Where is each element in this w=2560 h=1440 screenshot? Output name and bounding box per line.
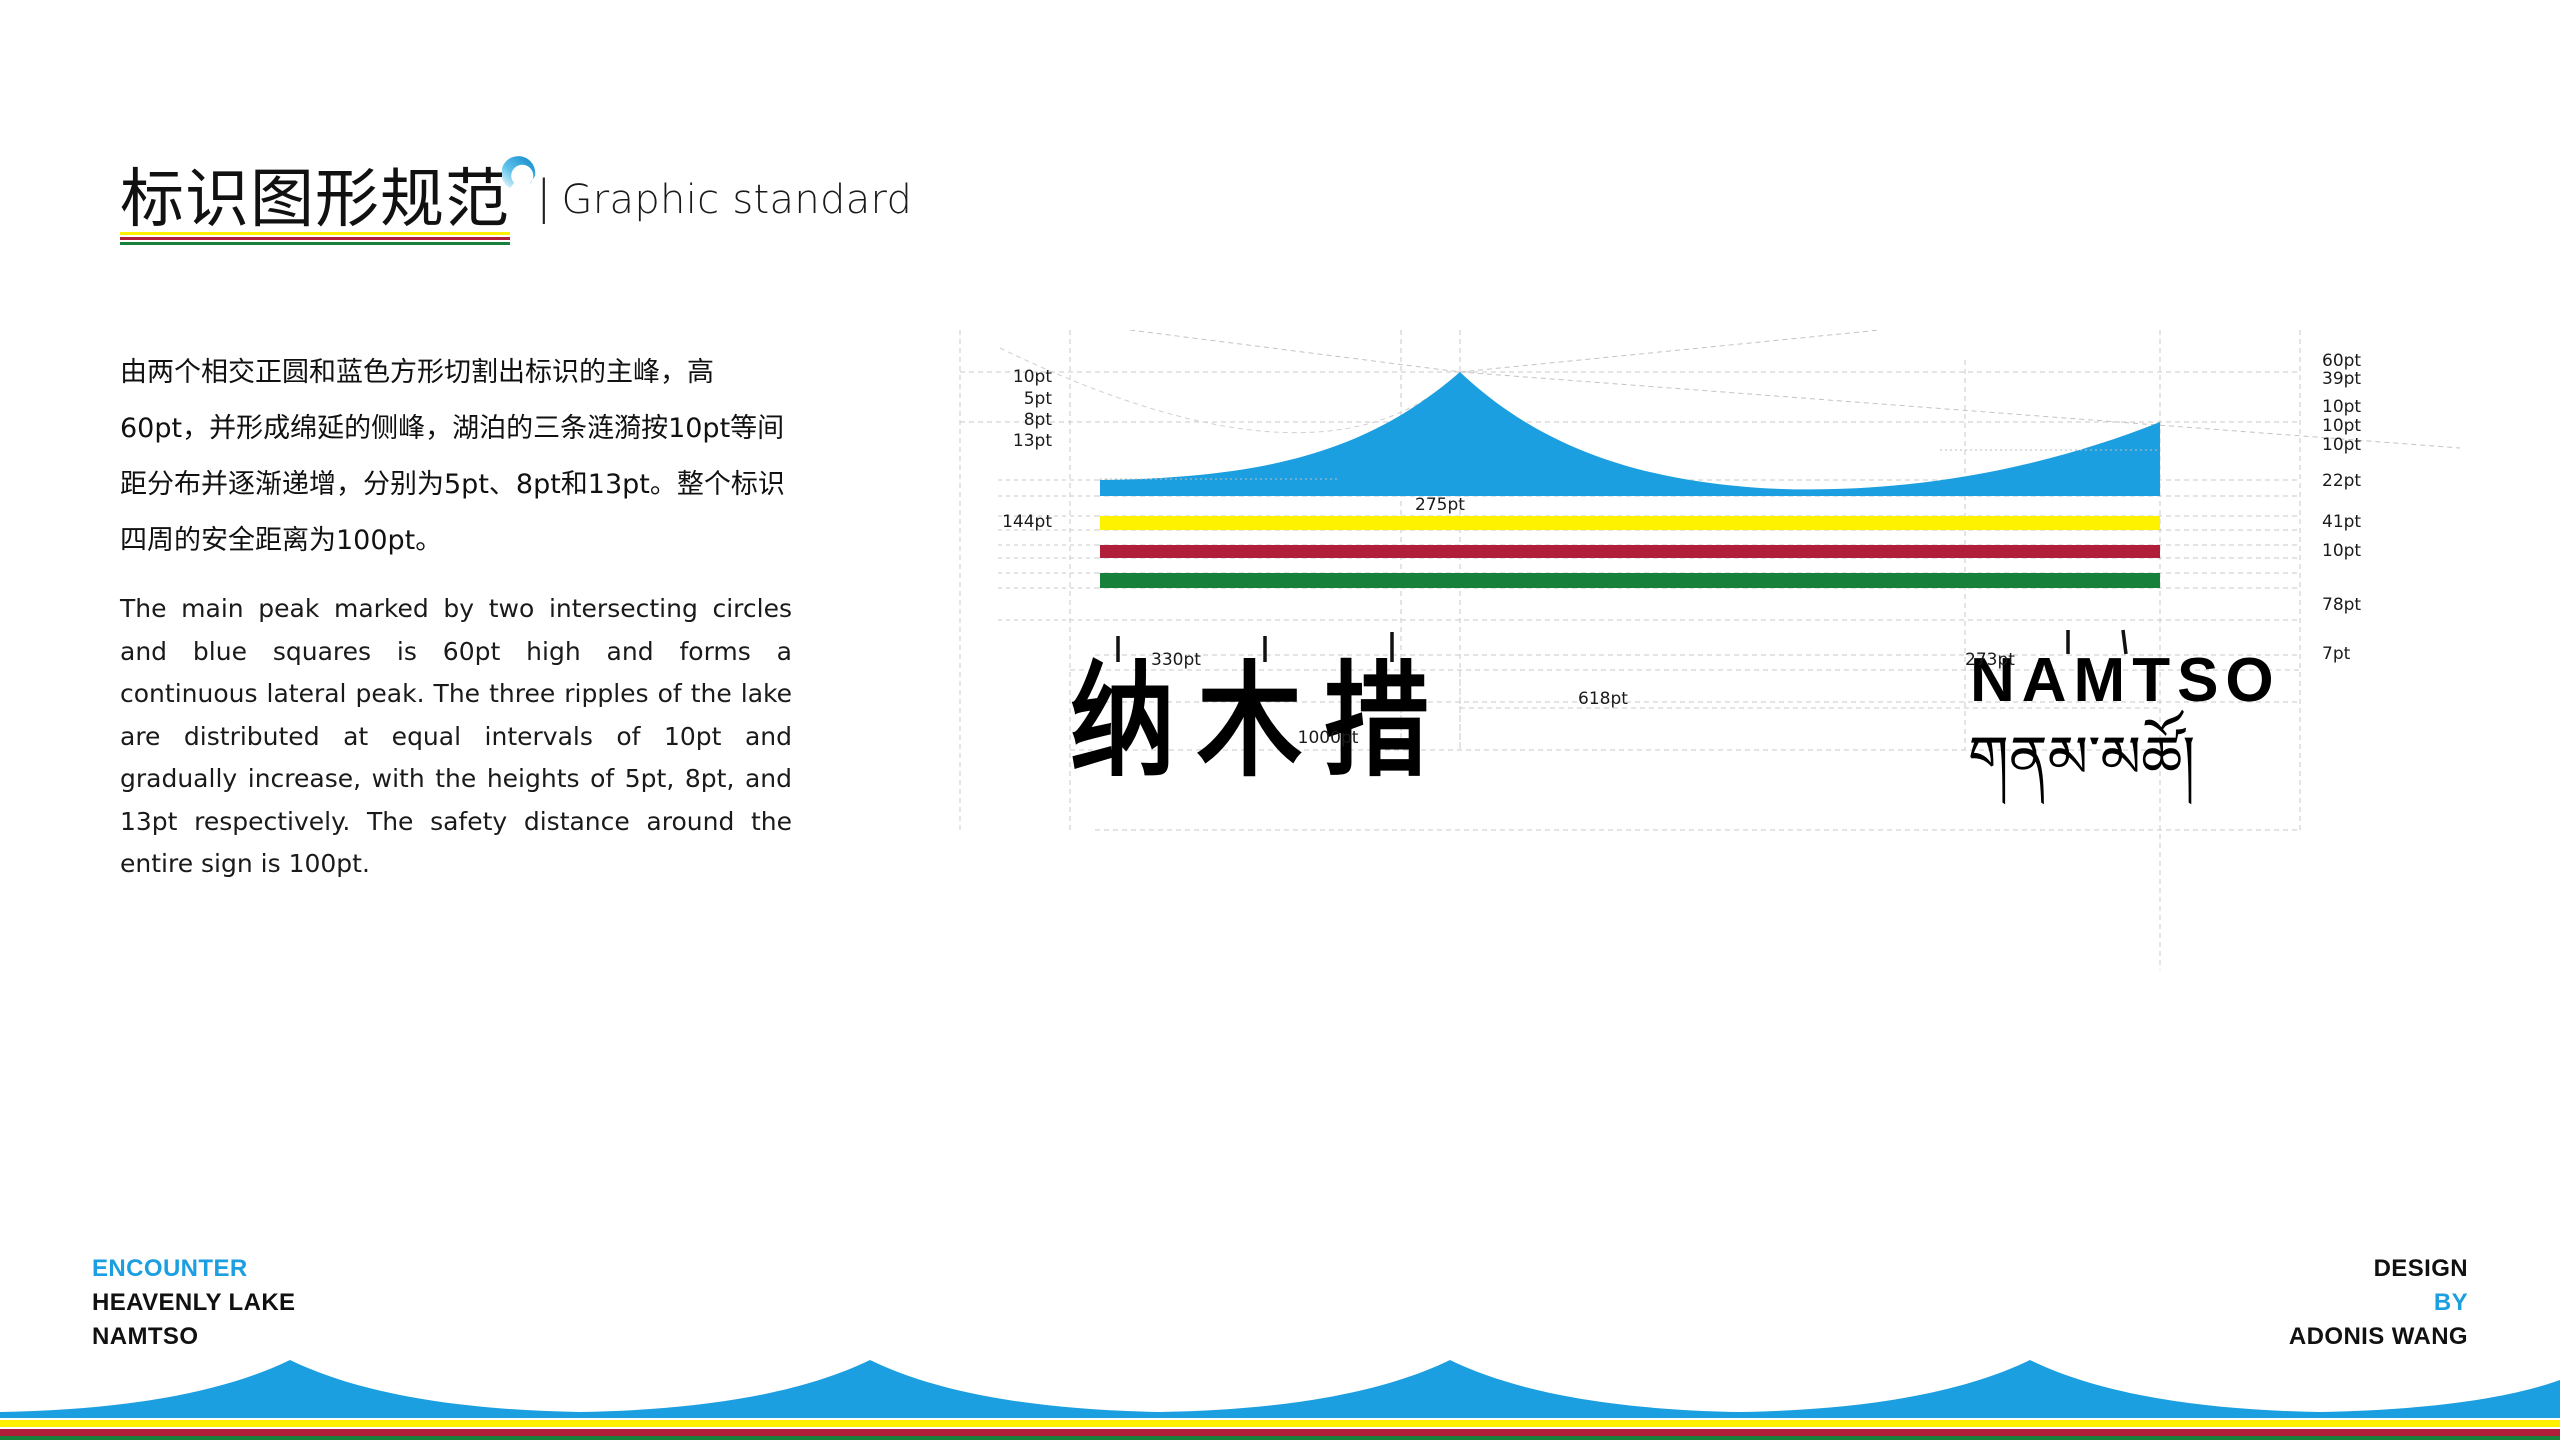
dimension-label: 144pt	[1002, 512, 1052, 532]
footer-left-line: NAMTSO	[92, 1320, 295, 1354]
dimension-label: 22pt	[2322, 471, 2361, 491]
footer-right-line: DESIGN	[2289, 1252, 2468, 1286]
dimension-label: 273pt	[1965, 650, 2015, 670]
page-title-block: 标识图形规范 | Graphic standard	[120, 168, 912, 232]
dimension-label: 5pt	[1024, 389, 1052, 409]
arc-guide	[1000, 348, 1460, 433]
dimension-label: 10pt	[2322, 416, 2361, 436]
ripple-stripe-yellow	[1100, 516, 2160, 530]
namtso-wave-banner	[0, 1350, 2560, 1440]
dimension-label: 7pt	[2322, 644, 2350, 664]
dimension-label: 78pt	[2322, 595, 2361, 615]
footer-right-line: ADONIS WANG	[2289, 1320, 2468, 1354]
underline-green	[120, 242, 510, 245]
logo-construction-diagram: 纳木措 NAMTSO གནམ་མཚོ། 10pt5pt8pt13pt144pt …	[940, 330, 2460, 1010]
title-cn-wrap: 标识图形规范	[120, 168, 510, 232]
construction-diagonals	[1130, 330, 2460, 448]
dimension-label: 10pt	[1013, 367, 1052, 387]
logo-wordmark-en: NAMTSO	[1970, 650, 2281, 712]
title-underline-stripes	[120, 230, 510, 245]
banner-stripe-yellow	[0, 1420, 2560, 1427]
dimension-label: 618pt	[1578, 689, 1628, 709]
logo-mountain-shape	[1100, 372, 2160, 496]
arc-swoosh-icon	[502, 154, 544, 196]
underline-red	[120, 237, 510, 240]
footer-left: ENCOUNTERHEAVENLY LAKENAMTSO	[92, 1252, 295, 1354]
dimension-label: 10pt	[2322, 541, 2361, 561]
page-title-en: Graphic standard	[562, 177, 913, 223]
dimension-label: 10pt	[2322, 435, 2361, 455]
dimension-label: 275pt	[1415, 495, 1465, 515]
description-paragraph-en: The main peak marked by two intersecting…	[120, 588, 792, 886]
banner-wave-shape	[0, 1360, 2560, 1418]
logo-wordmark-cn: 纳木措	[1070, 660, 1451, 784]
footer-left-line: ENCOUNTER	[92, 1252, 295, 1286]
ripple-stripe-red	[1100, 545, 2160, 558]
leader-lines	[998, 480, 1100, 620]
banner-stripe-green	[0, 1436, 2560, 1440]
dimension-label: 1000pt	[1298, 728, 1359, 748]
page-title-cn: 标识图形规范	[120, 168, 510, 232]
underline-yellow	[120, 232, 510, 235]
logo-wordmark-tibetan: གནམ་མཚོ།	[1968, 728, 2195, 786]
dimension-label: 8pt	[1024, 410, 1052, 430]
dimension-label: 60pt	[2322, 351, 2361, 371]
dimension-label: 39pt	[2322, 369, 2361, 389]
footer-right: DESIGNBYADONIS WANG	[2289, 1252, 2468, 1354]
ripple-stripe-green	[1100, 573, 2160, 588]
banner-stripe-red	[0, 1429, 2560, 1436]
dimension-label: 13pt	[1013, 431, 1052, 451]
dimension-label: 10pt	[2322, 397, 2361, 417]
dimension-label: 41pt	[2322, 512, 2361, 532]
footer-left-line: HEAVENLY LAKE	[92, 1286, 295, 1320]
description-paragraph-cn: 由两个相交正圆和蓝色方形切割出标识的主峰，高60pt，并形成绵延的侧峰，湖泊的三…	[120, 345, 800, 569]
dimension-label: 330pt	[1151, 650, 1201, 670]
footer-right-line: BY	[2289, 1286, 2468, 1320]
